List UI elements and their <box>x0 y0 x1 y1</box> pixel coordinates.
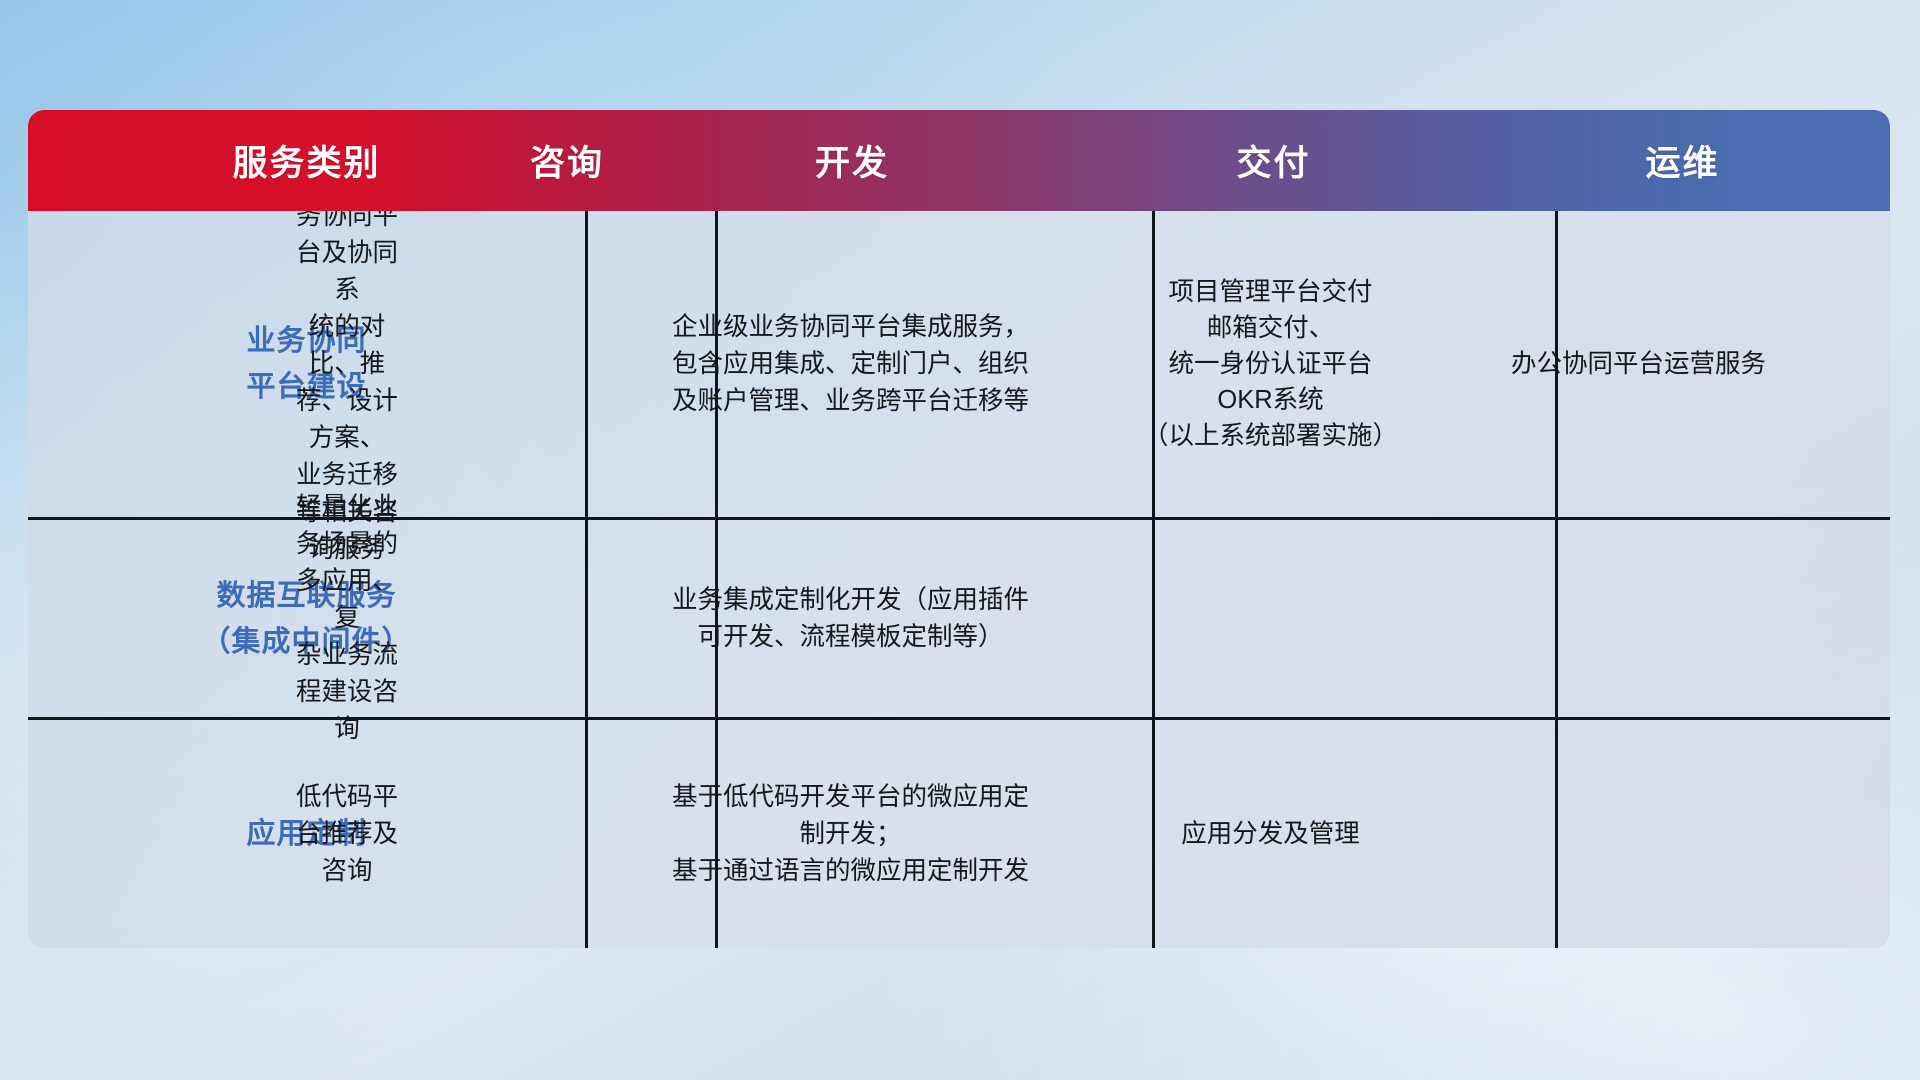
row-divider-1 <box>28 517 1890 520</box>
table-body: 业务协同 平台建设 企业级业务协同平台及协同系 统的对比、推荐、设计方案、 业务… <box>28 211 1890 948</box>
cell-operations <box>1472 720 1805 948</box>
column-header-operations[interactable]: 运维 <box>1475 135 1890 186</box>
cell-delivery: 项目管理平台交付 邮箱交付、 统一身份认证平台 OKR系统 （以上系统部署实施） <box>1069 211 1472 517</box>
cell-development: 基于低代码开发平台的微应用定 制开发； 基于通过语言的微应用定制开发 <box>632 720 1069 948</box>
cell-consulting: 轻量化业务场景的多应用、复 杂业务流程建设咨询 <box>282 520 412 717</box>
cell-operations: 办公协同平台运营服务 <box>1472 211 1805 517</box>
cell-operations <box>1472 520 1805 717</box>
column-divider-1 <box>585 211 588 948</box>
cell-development: 企业级业务协同平台集成服务， 包含应用集成、定制门户、组织 及账户管理、业务跨平… <box>632 211 1069 517</box>
column-divider-2 <box>715 211 718 948</box>
table-header-row: 服务类别 咨询 开发 交付 运维 <box>28 110 1890 211</box>
column-divider-3 <box>1152 211 1155 948</box>
column-header-delivery[interactable]: 交付 <box>1072 135 1475 186</box>
column-divider-4 <box>1555 211 1558 948</box>
column-header-development[interactable]: 开发 <box>632 135 1072 186</box>
table-row: 应用定制 低代码平台推荐及咨询 基于低代码开发平台的微应用定 制开发； 基于通过… <box>28 720 1890 948</box>
cell-consulting: 低代码平台推荐及咨询 <box>282 720 412 948</box>
cell-delivery: 应用分发及管理 <box>1069 720 1472 948</box>
cell-delivery <box>1069 520 1472 717</box>
cell-development: 业务集成定制化开发（应用插件 可开发、流程模板定制等） <box>632 520 1069 717</box>
column-header-consulting[interactable]: 咨询 <box>502 135 632 186</box>
row-divider-2 <box>28 717 1890 720</box>
cell-consulting: 企业级业务协同平台及协同系 统的对比、推荐、设计方案、 业务迁移等相关咨询服务 <box>282 211 412 517</box>
table-row: 数据互联服务 （集成中间件） 轻量化业务场景的多应用、复 杂业务流程建设咨询 业… <box>28 520 1890 717</box>
table-row: 业务协同 平台建设 企业级业务协同平台及协同系 统的对比、推荐、设计方案、 业务… <box>28 211 1890 517</box>
service-category-table: 服务类别 咨询 开发 交付 运维 业务协同 平台建设 企业级业务协同平台及协同系… <box>28 110 1890 948</box>
